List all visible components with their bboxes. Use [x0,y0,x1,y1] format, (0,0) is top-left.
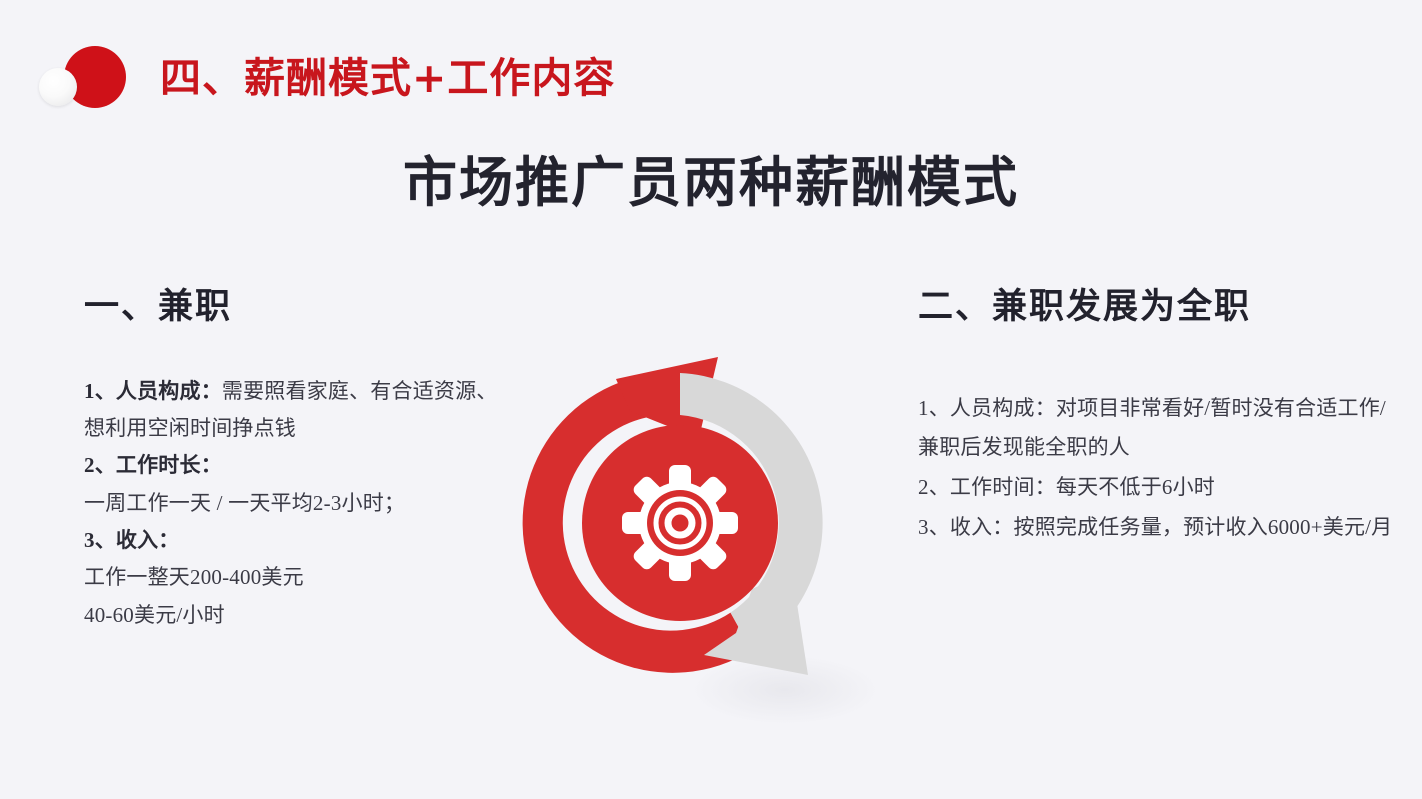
item-text: 3、收入：按照完成任务量，预计收入6000+美元/月 [918,515,1392,539]
column-full-time: 二、兼职发展为全职 1、人员构成：对项目非常看好/暂时没有合适工作/兼职后发现能… [918,288,1398,548]
list-item: 2、工作时间：每天不低于6小时 [918,468,1398,508]
white-circle-icon [39,68,77,106]
column-heading-left: 一、兼职 [84,288,514,327]
logo-mark [34,42,130,114]
list-item: 3、收入： [84,522,514,559]
item-label: 1、人员构成： [84,379,222,403]
item-text: 40-60美元/小时 [84,603,225,627]
column-part-time: 一、兼职 1、人员构成：需要照看家庭、有合适资源、想利用空闲时间挣点钱 2、工作… [84,288,514,634]
list-item: 工作一整天200-400美元 [84,559,514,596]
list-item: 一周工作一天 / 一天平均2-3小时； [84,485,514,522]
cycle-arrows-graphic [490,333,870,703]
column-heading-right: 二、兼职发展为全职 [918,288,1398,327]
slide-header: 四、薪酬模式+工作内容 [0,42,1422,114]
item-text: 工作一整天200-400美元 [84,565,304,589]
item-text: 2、工作时间：每天不低于6小时 [918,475,1215,499]
page-title: 市场推广员两种薪酬模式 [0,154,1422,213]
section-title: 四、薪酬模式+工作内容 [160,58,615,99]
list-item: 3、收入：按照完成任务量，预计收入6000+美元/月 [918,508,1398,548]
item-label: 2、工作时长： [84,453,222,477]
column-body-right: 1、人员构成：对项目非常看好/暂时没有合适工作/兼职后发现能全职的人 2、工作时… [918,389,1398,549]
item-label: 3、收入： [84,528,180,552]
list-item: 40-60美元/小时 [84,597,514,634]
slide-canvas: 四、薪酬模式+工作内容 市场推广员两种薪酬模式 一、兼职 1、人员构成：需要照看… [0,0,1422,799]
item-text: 一周工作一天 / 一天平均2-3小时； [84,491,405,515]
list-item: 1、人员构成：需要照看家庭、有合适资源、想利用空闲时间挣点钱 [84,373,514,448]
list-item: 2、工作时长： [84,447,514,484]
column-body-left: 1、人员构成：需要照看家庭、有合适资源、想利用空闲时间挣点钱 2、工作时长： 一… [84,373,514,635]
list-item: 1、人员构成：对项目非常看好/暂时没有合适工作/兼职后发现能全职的人 [918,389,1398,469]
item-text: 1、人员构成：对项目非常看好/暂时没有合适工作/兼职后发现能全职的人 [918,396,1386,460]
